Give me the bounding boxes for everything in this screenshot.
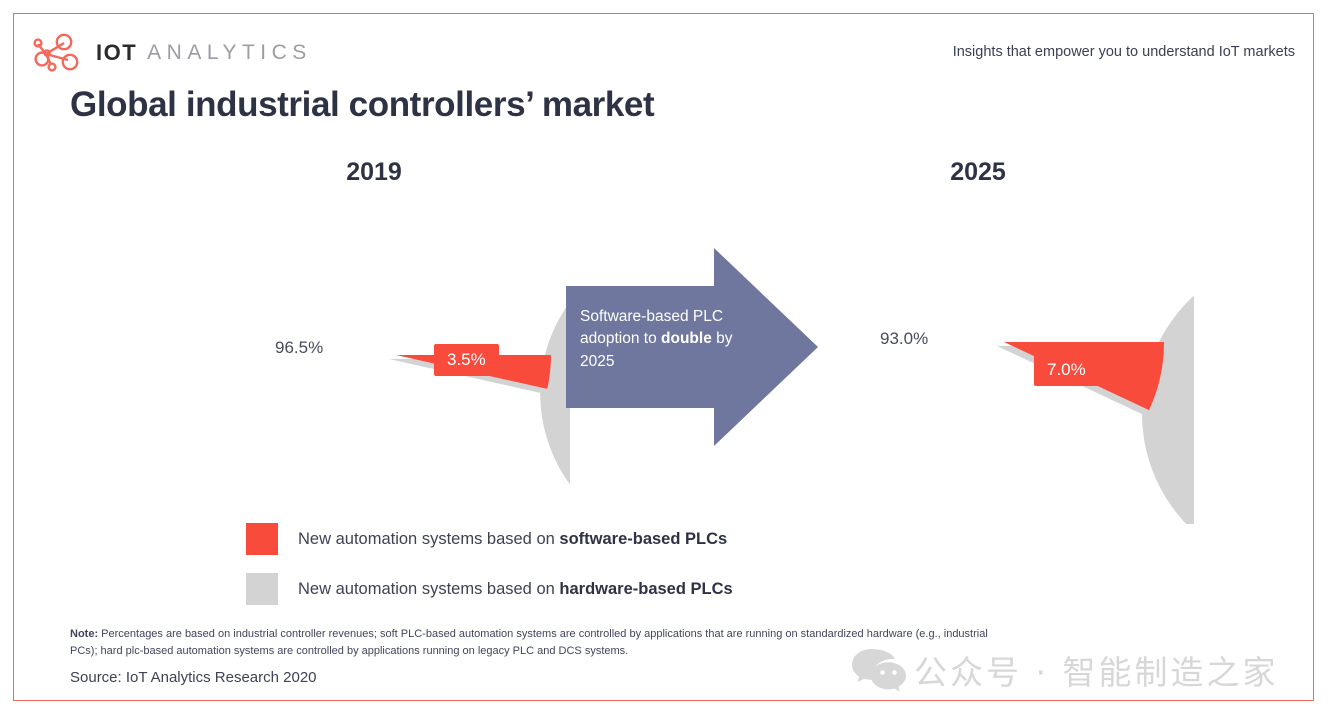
pie-label-software-2019: 3.5% xyxy=(434,344,499,376)
chart-legend: New automation systems based on software… xyxy=(246,514,733,614)
pie-slice-software-2025 xyxy=(1004,342,1164,410)
pie-svg-2025 xyxy=(814,174,1194,524)
pie-slice-hardware-2019 xyxy=(389,238,570,529)
pie-slice-hardware-2025 xyxy=(997,254,1194,524)
slide-frame: IOT ANALYTICS Insights that empower you … xyxy=(13,13,1314,701)
legend-swatch-hardware xyxy=(246,573,278,605)
legend-item-hardware: New automation systems based on hardware… xyxy=(246,564,733,614)
legend-swatch-software xyxy=(246,523,278,555)
brand-logo-lockup: IOT ANALYTICS xyxy=(30,31,312,75)
header-tagline: Insights that empower you to understand … xyxy=(953,44,1295,60)
arrow-callout-text: Software-based PLC adoption to double by… xyxy=(580,306,740,373)
footnote-note-text: Percentages are based on industrial cont… xyxy=(70,628,988,657)
footnote-note-label: Note: xyxy=(70,628,98,640)
footnote-block: Note: Percentages are based on industria… xyxy=(70,626,1000,686)
pie-label-hardware-2019: 96.5% xyxy=(275,338,323,358)
legend-label-hardware: New automation systems based on hardware… xyxy=(298,580,733,599)
legend-label-software: New automation systems based on software… xyxy=(298,530,727,549)
footnote-note: Note: Percentages are based on industria… xyxy=(70,626,1000,660)
network-nodes-icon xyxy=(30,32,84,74)
footnote-source: Source: IoT Analytics Research 2020 xyxy=(70,669,1000,686)
callout-line-2-bold: double xyxy=(661,330,712,347)
pie-label-software-2025: 7.0% xyxy=(1034,354,1099,386)
slide-page: IOT ANALYTICS Insights that empower you … xyxy=(0,0,1331,712)
pie-chart-2025 xyxy=(814,174,1194,524)
legend-label-hardware-bold: hardware-based PLCs xyxy=(559,580,732,598)
legend-label-software-bold: software-based PLCs xyxy=(559,530,727,548)
pie-label-hardware-2025: 93.0% xyxy=(880,329,928,349)
arrow-callout: Software-based PLC adoption to double by… xyxy=(566,238,818,456)
callout-line-1: Software-based PLC xyxy=(580,308,723,325)
page-title: Global industrial controllers’ market xyxy=(70,85,654,125)
legend-label-software-plain: New automation systems based on xyxy=(298,530,559,548)
legend-item-software: New automation systems based on software… xyxy=(246,514,733,564)
legend-label-hardware-plain: New automation systems based on xyxy=(298,580,559,598)
pie-chart-2019 xyxy=(210,189,570,529)
brand-name-primary: IOT xyxy=(96,40,137,66)
callout-line-2-pre: adoption to xyxy=(580,330,661,347)
callout-line-2-post: by xyxy=(712,330,733,347)
pie-svg-2019 xyxy=(210,189,570,529)
brand-name-secondary: ANALYTICS xyxy=(147,41,312,65)
callout-line-3: 2025 xyxy=(580,353,614,370)
pie-slice-software-2019 xyxy=(396,355,551,389)
chart-title-2019: 2019 xyxy=(274,158,474,187)
chart-title-2025: 2025 xyxy=(878,158,1078,187)
